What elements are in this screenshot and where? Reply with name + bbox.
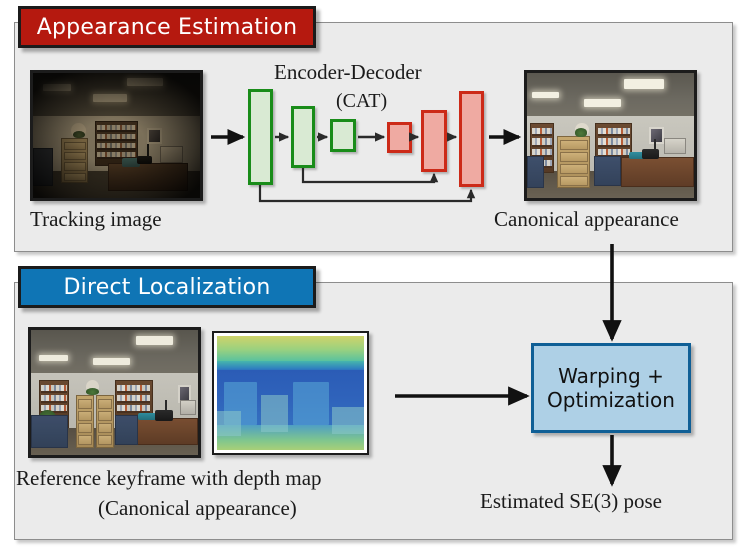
canonical-appearance-caption: Canonical appearance <box>494 207 679 232</box>
depth-map-image <box>212 331 369 455</box>
section-title-label: Appearance Estimation <box>37 15 297 40</box>
reference-caption-line-2: (Canonical appearance) <box>98 496 297 521</box>
warping-label-line-2: Optimization <box>547 388 675 412</box>
network-subtitle: (CAT) <box>336 90 387 113</box>
figure-canvas: Appearance Estimation Direct Localizatio… <box>0 0 747 554</box>
office-scene-reference <box>31 330 198 455</box>
office-scene-bright <box>527 73 694 198</box>
estimated-pose-caption: Estimated SE(3) pose <box>480 489 662 514</box>
encoder-block-2 <box>291 106 315 168</box>
encoder-block-3 <box>330 119 356 152</box>
section-title-direct-localization: Direct Localization <box>18 266 316 308</box>
decoder-block-1 <box>387 122 412 153</box>
depth-map-canvas <box>217 336 364 450</box>
section-title-appearance-estimation: Appearance Estimation <box>18 6 316 48</box>
section-title-label: Direct Localization <box>64 275 271 300</box>
warping-label-line-1: Warping + <box>558 364 664 388</box>
warping-optimization-box: Warping + Optimization <box>531 343 691 433</box>
tracking-image-caption: Tracking image <box>30 207 162 232</box>
encoder-block-1 <box>248 89 273 185</box>
vignette-overlay <box>33 73 200 198</box>
tracking-image <box>30 70 203 201</box>
reference-caption-line-1: Reference keyframe with depth map <box>16 466 322 491</box>
reference-keyframe-image <box>28 327 201 458</box>
canonical-appearance-image <box>524 70 697 201</box>
decoder-block-2 <box>421 110 447 172</box>
decoder-block-3 <box>459 91 484 187</box>
network-title: Encoder-Decoder <box>274 60 422 85</box>
